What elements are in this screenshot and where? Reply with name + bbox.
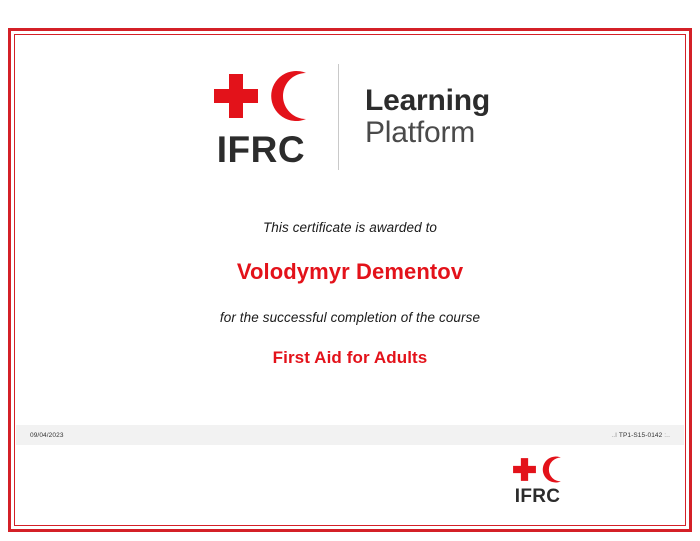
red-crescent-icon <box>540 456 564 483</box>
ifrc-logo: IFRC <box>210 62 338 172</box>
red-cross-icon <box>210 70 262 122</box>
awarded-to-label: This certificate is awarded to <box>16 220 684 235</box>
certificate-code: ..I TP1-S15-0142 :.. <box>611 432 670 439</box>
ifrc-wordmark: IFRC <box>217 131 305 168</box>
certificate-page: IFRC Learning Platform This certificate … <box>0 0 700 541</box>
code-value: TP1-S15-0142 <box>619 432 662 439</box>
brand-line-learning: Learning <box>365 85 490 117</box>
ifrc-footer-wordmark: IFRC <box>515 487 561 506</box>
course-title: First Aid for Adults <box>16 348 684 368</box>
code-prefix-marks: ..I <box>611 432 617 439</box>
red-crescent-icon <box>266 70 312 122</box>
red-cross-icon <box>511 456 538 483</box>
brand-line-platform: Platform <box>365 117 490 149</box>
certificate-body: This certificate is awarded to Volodymyr… <box>16 220 684 368</box>
ifrc-footer-emblem <box>511 454 564 484</box>
certificate-content: IFRC Learning Platform This certificate … <box>16 36 684 524</box>
certificate-footer-bar: 09/04/2023 ..I TP1-S15-0142 :.. <box>16 425 684 445</box>
certificate-header: IFRC Learning Platform <box>16 36 684 172</box>
issue-date: 09/04/2023 <box>30 432 64 439</box>
ifrc-footer-logo: IFRC <box>511 454 564 506</box>
completion-label: for the successful completion of the cou… <box>16 310 684 325</box>
ifrc-emblem <box>210 67 312 125</box>
learning-platform-wordmark: Learning Platform <box>339 62 490 172</box>
code-suffix-marks: :.. <box>664 432 670 439</box>
recipient-name: Volodymyr Dementov <box>16 259 684 285</box>
ifrc-learning-platform-logo: IFRC Learning Platform <box>210 62 490 172</box>
